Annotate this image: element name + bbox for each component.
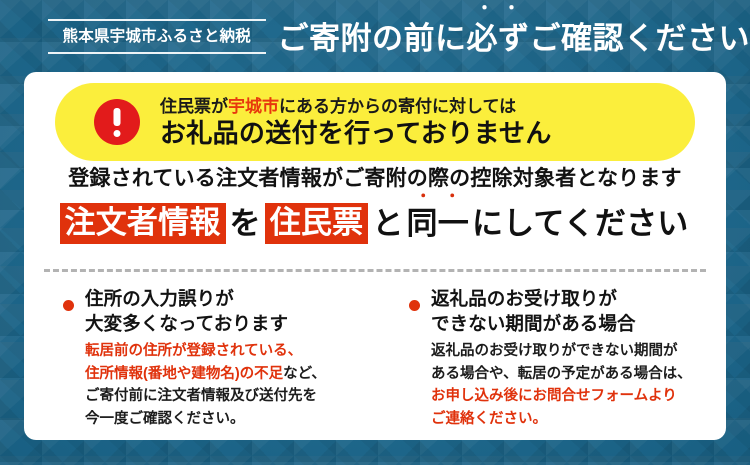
statement-redbox-orderer-info: 注文者情報 bbox=[60, 203, 226, 244]
notice-body-line-2b: など、 bbox=[283, 366, 326, 382]
alert-line-2: お礼品の送付を行っておりません bbox=[160, 120, 552, 146]
notice-body-line-2a: 住所情報(番地や建物名)の不足 bbox=[85, 366, 283, 382]
notice-heading-line-1: 住所の入力誤りが bbox=[85, 287, 367, 312]
municipality-label: 熊本県宇城市ふるさと納税 bbox=[48, 18, 266, 55]
alert-line-1: 住民票が宇城市にある方からの寄付に対しては bbox=[160, 98, 552, 115]
notice-body-line-4: 今一度ご確認ください。 bbox=[85, 411, 245, 427]
notice-heading-line-2: 大変多くなっております bbox=[85, 312, 367, 337]
notice-column-body: 返礼品のお受け取りが できない期間がある場合 返礼品のお受け取りができない期間が… bbox=[431, 287, 718, 430]
statement-line-1: 登録されている注文者情報がご寄附の際の控除対象者となります bbox=[24, 168, 726, 189]
notice-body-line-4: ご連絡ください。 bbox=[431, 411, 547, 427]
bullet-dot-icon bbox=[409, 300, 420, 311]
municipality-label-text: 熊本県宇城市ふるさと納税 bbox=[63, 28, 251, 45]
notice-heading-line-2: できない期間がある場合 bbox=[431, 312, 718, 337]
notice-body-line-1: 返礼品のお受け取りができない期間が bbox=[431, 343, 678, 359]
notice-body-text: 返礼品のお受け取りができない期間が ある場合や、転居の予定がある場合は、 お申し… bbox=[431, 340, 718, 430]
notice-column-delivery-window: 返礼品のお受け取りが できない期間がある場合 返礼品のお受け取りができない期間が… bbox=[375, 287, 726, 430]
notice-column-body: 住所の入力誤りが 大変多くなっております 転居前の住所が登録されている、 住所情… bbox=[85, 287, 367, 430]
notice-heading-line-1: 返礼品のお受け取りが bbox=[431, 287, 718, 312]
statement-connector-2: と bbox=[369, 208, 406, 239]
notice-body-line-1: 転居前の住所が登録されている、 bbox=[85, 343, 302, 359]
notice-column-address-error: 住所の入力誤りが 大変多くなっております 転居前の住所が登録されている、 住所情… bbox=[24, 287, 375, 430]
notice-heading: 住所の入力誤りが 大変多くなっております bbox=[85, 287, 367, 336]
notice-body-line-3: お申し込み後にお問合せフォームより bbox=[431, 388, 677, 404]
notice-columns: 住所の入力誤りが 大変多くなっております 転居前の住所が登録されている、 住所情… bbox=[24, 287, 726, 430]
page-title-emphasis: 必ず bbox=[467, 23, 530, 54]
dashed-divider bbox=[44, 269, 706, 272]
content-card: 住民票が宇城市にある方からの寄付に対しては お礼品の送付を行っておりません 登録… bbox=[24, 72, 726, 440]
page-title-part1: ご寄附の前に bbox=[278, 21, 467, 56]
page-title-part2: ご確認ください bbox=[530, 21, 750, 56]
donation-notice-banner: 熊本県宇城市ふるさと納税 ご寄附の前に必ずご確認ください 住民票が宇城市にある方… bbox=[0, 0, 750, 465]
statement-line-2: 注文者情報を住民票と同一にしてください bbox=[24, 203, 726, 244]
banner-header: 熊本県宇城市ふるさと納税 ご寄附の前に必ずご確認ください bbox=[0, 0, 750, 72]
bullet-dot-icon bbox=[63, 300, 74, 311]
alert-line-1-suffix: にある方からの寄付に対しては bbox=[279, 97, 516, 116]
notice-body-text: 転居前の住所が登録されている、 住所情報(番地や建物名)の不足など、 ご寄付前に… bbox=[85, 340, 367, 430]
exclamation-circle-icon bbox=[94, 99, 140, 145]
notice-body-line-3: ご寄付前に注文者情報及び送付先を bbox=[85, 388, 317, 404]
notice-heading: 返礼品のお受け取りが できない期間がある場合 bbox=[431, 287, 718, 336]
alert-line-1-highlight: 宇城市 bbox=[228, 97, 279, 116]
statement-emphasis-identical: 同一 bbox=[407, 208, 469, 239]
statement-tail: にしてください bbox=[469, 208, 692, 239]
page-title: ご寄附の前に必ずご確認ください bbox=[278, 23, 750, 54]
statement-connector-1: を bbox=[227, 208, 264, 239]
statement-redbox-residence-card: 住民票 bbox=[265, 203, 369, 244]
statement-block: 登録されている注文者情報がご寄附の際の控除対象者となります 注文者情報を住民票と… bbox=[24, 168, 726, 244]
alert-line-1-prefix: 住民票が bbox=[160, 97, 228, 116]
alert-text-block: 住民票が宇城市にある方からの寄付に対しては お礼品の送付を行っておりません bbox=[160, 98, 552, 146]
notice-body-line-2: ある場合や、転居の予定がある場合は、 bbox=[431, 366, 692, 382]
alert-banner: 住民票が宇城市にある方からの寄付に対しては お礼品の送付を行っておりません bbox=[55, 83, 695, 161]
